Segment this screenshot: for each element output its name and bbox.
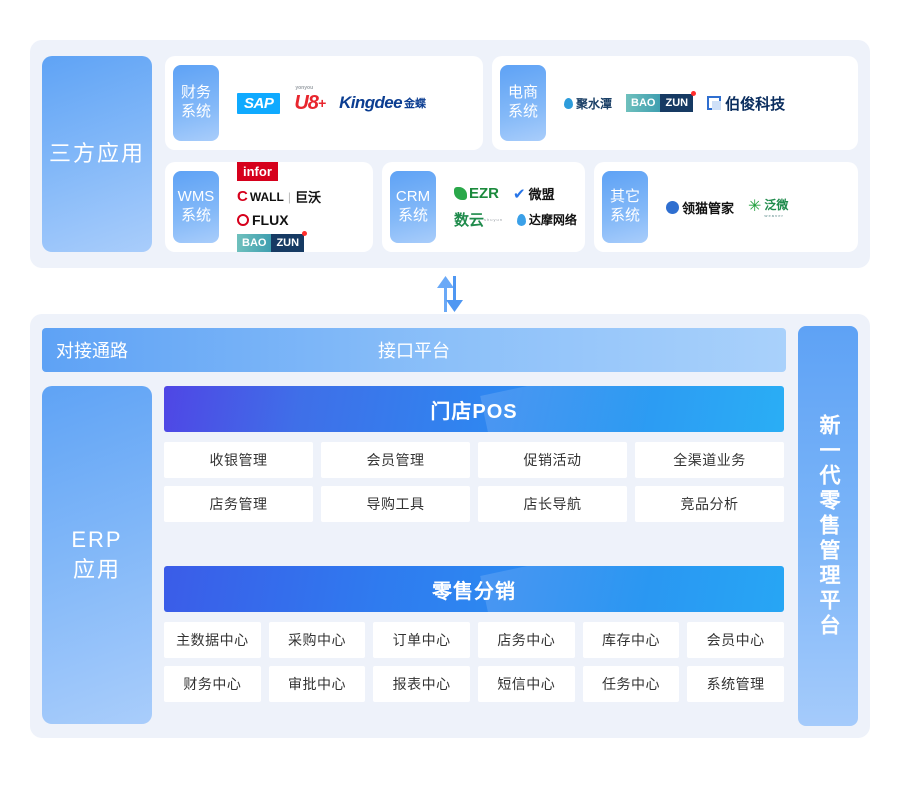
bojun-text: 伯俊科技 bbox=[725, 93, 785, 114]
damo-drop-icon bbox=[517, 214, 526, 226]
jushuitan-logo: 聚水潭 bbox=[564, 95, 612, 112]
erp-section-label: ERP 应用 bbox=[42, 386, 152, 724]
interface-platform-bar: 对接通路 接口平台 bbox=[42, 328, 786, 372]
kingdee-cn: 金蝶 bbox=[404, 95, 426, 111]
water-drop-icon bbox=[564, 98, 573, 109]
group-tag-ecommerce-line2: 系统 bbox=[508, 103, 538, 120]
lingmao-text: 领猫管家 bbox=[682, 198, 734, 217]
module-tile[interactable]: 财务中心 bbox=[164, 666, 261, 702]
module-tile[interactable]: 竞品分析 bbox=[635, 486, 784, 522]
ezr-text: EZR bbox=[469, 185, 499, 202]
baozun-text-b: ZUN bbox=[660, 94, 693, 112]
module-tile[interactable]: 短信中心 bbox=[478, 666, 575, 702]
weaver-fanwei-logo: ✳ 泛微weaver bbox=[748, 196, 788, 218]
module-tile[interactable]: 店长导航 bbox=[478, 486, 627, 522]
group-tag-crm-line1: CRM bbox=[396, 188, 430, 205]
cwall-text: WALL bbox=[250, 190, 284, 204]
group-logos-wms: infor CWALL|巨沃 FLUX BAOZUN bbox=[229, 158, 373, 256]
module-tile[interactable]: 收银管理 bbox=[164, 442, 313, 478]
retail-tile-grid: 主数据中心 采购中心 订单中心 店务中心 库存中心 会员中心 财务中心 审批中心… bbox=[164, 622, 784, 702]
module-tile[interactable]: 订单中心 bbox=[373, 622, 470, 658]
sap-logo: SAP bbox=[237, 93, 280, 114]
baozun-dot-icon bbox=[691, 91, 696, 96]
group-tag-crm: CRM 系统 bbox=[390, 171, 436, 243]
group-tag-other: 其它 系统 bbox=[602, 171, 648, 243]
group-tag-crm-line2: 系统 bbox=[398, 207, 428, 224]
group-tag-other-line1: 其它 bbox=[610, 188, 640, 205]
erp-label-line2: 应用 bbox=[73, 557, 121, 582]
retail-banner-title: 零售分销 bbox=[164, 566, 784, 612]
flux-logo: FLUX bbox=[237, 212, 289, 228]
baozun-logo: BAOZUN bbox=[626, 94, 693, 112]
baozun-dot-icon bbox=[302, 231, 307, 236]
damo-text: 达摩网络 bbox=[529, 211, 577, 228]
platform-vertical-banner: 新一代零售管理平台 bbox=[798, 326, 858, 726]
flux-text: FLUX bbox=[252, 212, 289, 228]
third-party-section-label: 三方应用 bbox=[42, 56, 152, 252]
group-card-crm[interactable]: CRM 系统 EZR ✔微盟 数云shuyun 达摩网络 bbox=[382, 162, 585, 252]
shuyun-subtext: shuyun bbox=[484, 217, 503, 222]
module-tile[interactable]: 导购工具 bbox=[321, 486, 470, 522]
module-tile[interactable]: 店务中心 bbox=[478, 622, 575, 658]
damo-network-logo: 达摩网络 bbox=[517, 211, 577, 228]
third-party-label-line1: 三方应用 bbox=[49, 141, 145, 166]
yonyou-wordmark: yonyou bbox=[295, 85, 313, 91]
module-tile[interactable]: 采购中心 bbox=[269, 622, 366, 658]
juwo-text: 巨沃 bbox=[295, 187, 321, 206]
bojun-technology-logo: 伯俊科技 bbox=[707, 93, 785, 114]
group-card-other[interactable]: 其它 系统 领猫管家 ✳ 泛微weaver bbox=[594, 162, 858, 252]
lingmao-circle-icon bbox=[666, 201, 679, 214]
shuyun-logo: 数云shuyun bbox=[454, 209, 503, 230]
group-card-finance[interactable]: 财务 系统 SAP yonyou U8+ Kingdee金蝶 bbox=[165, 56, 483, 150]
group-tag-finance: 财务 系统 bbox=[173, 65, 219, 141]
pos-tile-grid: 收银管理 会员管理 促销活动 全渠道业务 店务管理 导购工具 店长导航 竞品分析 bbox=[164, 442, 784, 522]
module-tile[interactable]: 促销活动 bbox=[478, 442, 627, 478]
group-tag-ecommerce-line1: 电商 bbox=[508, 84, 538, 101]
weimob-logo: ✔微盟 bbox=[513, 184, 555, 203]
weaver-subtext: weaver bbox=[764, 213, 788, 218]
lingmao-guanjia-logo: 领猫管家 bbox=[666, 198, 734, 217]
group-logos-crm: EZR ✔微盟 数云shuyun 达摩网络 bbox=[446, 180, 585, 234]
cwall-juwo-logo: CWALL|巨沃 bbox=[237, 187, 321, 206]
group-tag-wms: WMS 系统 bbox=[173, 171, 219, 243]
group-card-ecommerce[interactable]: 电商 系统 聚水潭 BAOZUN 伯俊科技 bbox=[492, 56, 858, 150]
baozun-logo: BAOZUN bbox=[237, 234, 304, 252]
group-logos-other: 领猫管家 ✳ 泛微weaver bbox=[658, 192, 858, 222]
group-logos-ecommerce: 聚水潭 BAOZUN 伯俊科技 bbox=[556, 89, 858, 118]
module-tile[interactable]: 报表中心 bbox=[373, 666, 470, 702]
group-card-wms[interactable]: WMS 系统 infor CWALL|巨沃 FLUX BAOZUN bbox=[165, 162, 373, 252]
module-tile[interactable]: 审批中心 bbox=[269, 666, 366, 702]
weaver-star-icon: ✳ bbox=[748, 199, 761, 215]
bojun-square-icon bbox=[707, 96, 721, 110]
weimob-text: 微盟 bbox=[529, 184, 555, 203]
infographic-stage: 三方应用 财务 系统 SAP yonyou U8+ Kingdee金蝶 电商 bbox=[0, 0, 900, 788]
group-tag-ecommerce: 电商 系统 bbox=[500, 65, 546, 141]
module-tile[interactable]: 会员中心 bbox=[687, 622, 784, 658]
cwall-c-icon: C bbox=[237, 188, 248, 205]
kingdee-logo: Kingdee金蝶 bbox=[339, 93, 426, 113]
module-block-pos: 门店POS 收银管理 会员管理 促销活动 全渠道业务 店务管理 导购工具 店长导… bbox=[164, 386, 784, 522]
ezr-logo: EZR bbox=[454, 185, 499, 202]
kingdee-text: Kingdee bbox=[339, 93, 402, 113]
shuyun-text: 数云 bbox=[454, 209, 484, 230]
weimob-check-icon: ✔ bbox=[513, 185, 526, 203]
module-tile[interactable]: 店务管理 bbox=[164, 486, 313, 522]
module-block-retail-distribution: 零售分销 主数据中心 采购中心 订单中心 店务中心 库存中心 会员中心 财务中心… bbox=[164, 566, 784, 702]
cwall-divider: | bbox=[288, 190, 291, 204]
interface-bar-left-label: 对接通路 bbox=[42, 337, 128, 363]
u8-plus: + bbox=[318, 95, 325, 111]
group-tag-finance-line2: 系统 bbox=[181, 103, 211, 120]
infor-logo: infor bbox=[237, 162, 278, 181]
module-tile[interactable]: 库存中心 bbox=[583, 622, 680, 658]
group-tag-wms-line2: 系统 bbox=[181, 207, 211, 224]
baozun-text-b: ZUN bbox=[271, 234, 304, 252]
interface-bar-center-label: 接口平台 bbox=[42, 337, 786, 363]
module-tile[interactable]: 主数据中心 bbox=[164, 622, 261, 658]
group-tag-other-line2: 系统 bbox=[610, 207, 640, 224]
module-tile[interactable]: 全渠道业务 bbox=[635, 442, 784, 478]
group-tag-finance-line1: 财务 bbox=[181, 84, 211, 101]
baozun-text-a: BAO bbox=[237, 234, 271, 252]
baozun-text-a: BAO bbox=[626, 94, 660, 112]
group-tag-wms-line1: WMS bbox=[178, 188, 215, 205]
ezr-leaf-icon bbox=[454, 187, 467, 200]
flux-ring-icon bbox=[237, 214, 249, 226]
bidirectional-sync-arrow bbox=[434, 276, 466, 312]
yonyou-u8-logo: yonyou U8+ bbox=[294, 92, 325, 115]
module-tile[interactable]: 系统管理 bbox=[687, 666, 784, 702]
group-logos-finance: SAP yonyou U8+ Kingdee金蝶 bbox=[229, 88, 483, 119]
pos-banner-title: 门店POS bbox=[164, 386, 784, 432]
u8-text: U8 bbox=[294, 92, 318, 115]
module-tile[interactable]: 任务中心 bbox=[583, 666, 680, 702]
module-tile[interactable]: 会员管理 bbox=[321, 442, 470, 478]
erp-label-line1: ERP bbox=[71, 527, 122, 552]
jushuitan-text: 聚水潭 bbox=[576, 95, 612, 112]
weaver-text: 泛微 bbox=[764, 198, 788, 212]
